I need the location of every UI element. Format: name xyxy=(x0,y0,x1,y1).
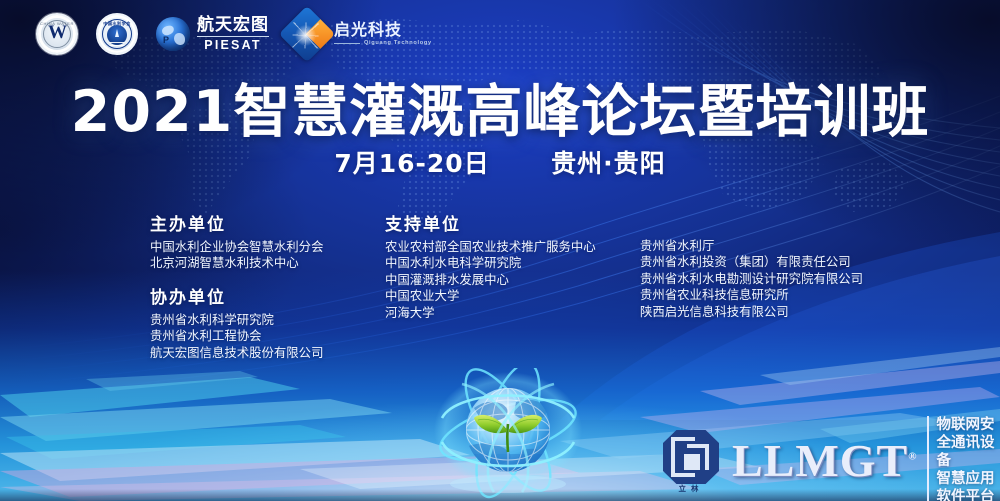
organizer-heading: 主办单位 xyxy=(150,210,385,235)
piesat-name-cn: 航天宏图 xyxy=(197,17,269,34)
llmgt-tagline-line2: 智慧应用软件平台 xyxy=(936,470,1000,501)
list-item: 陕西启光信息科技有限公司 xyxy=(640,304,900,320)
qiguang-name-cn: 启光科技 xyxy=(334,22,432,38)
china-water-enterprise-seal-icon: CHINA WATER W xyxy=(36,13,78,55)
organizer-column: 主办单位 中国水利企业协会智慧水利分会 北京河湖智慧水利技术中心 协办单位 贵州… xyxy=(150,210,385,361)
piesat-divider xyxy=(197,36,269,37)
list-item: 中国水利水电科学研究院 xyxy=(385,255,640,271)
supporter-list: 农业农村部全国农业技术推广服务中心 中国水利水电科学研究院 中国灌溉排水发展中心… xyxy=(385,239,640,321)
list-item: 中国灌溉排水发展中心 xyxy=(385,272,640,288)
llmgt-tagline-line1: 物联网安全通讯设备 xyxy=(936,416,1000,470)
llmgt-octagon-icon: 立林 xyxy=(660,428,722,494)
list-item: 河海大学 xyxy=(385,305,640,321)
piesat-globe-icon: P xyxy=(156,17,190,51)
qiguang-divider xyxy=(334,43,360,44)
qiguang-name-en: Qiguang Technology xyxy=(364,41,432,47)
co-organizer-heading: 协办单位 xyxy=(150,283,385,308)
list-item: 贵州省水利厅 xyxy=(640,238,900,254)
llmgt-wordmark: LLMGT® xyxy=(732,438,917,484)
piesat-badge-letter: P xyxy=(163,35,169,45)
piesat-name-en: PIESAT xyxy=(204,39,261,52)
organizer-list: 中国水利企业协会智慧水利分会 北京河湖智慧水利技术中心 xyxy=(150,239,385,272)
logo-piesat: P 航天宏图 PIESAT xyxy=(156,17,269,52)
list-item: 贵州省水利工程协会 xyxy=(150,328,385,344)
event-location: 贵州·贵阳 xyxy=(551,149,666,178)
list-item: 贵州省水利水电勘测设计研究院有限公司 xyxy=(640,271,900,287)
registered-mark: ® xyxy=(908,451,917,463)
poster-subtitle: 7月16-20日 贵州·贵阳 xyxy=(0,144,1000,180)
list-item: 航天宏图信息技术股份有限公司 xyxy=(150,345,385,361)
list-item: 农业农村部全国农业技术推广服务中心 xyxy=(385,239,640,255)
llmgt-wordmark-text: LLMGT xyxy=(732,435,908,486)
logo-water-conservancy: 中国水利学会 xyxy=(96,13,138,55)
list-item: 中国农业大学 xyxy=(385,288,640,304)
seal-monogram: W xyxy=(38,22,76,44)
supporter-heading: 支持单位 xyxy=(385,210,640,235)
conference-poster: CHINA WATER W 中国水利学会 P 航天宏图 PIESAT xyxy=(0,0,1000,501)
supporter-column-continued: 贵州省水利厅 贵州省水利投资（集团）有限责任公司 贵州省水利水电勘测设计研究院有… xyxy=(640,210,900,320)
water-conservancy-seal-icon: 中国水利学会 xyxy=(96,13,138,55)
earth-sprout-globe-graphic xyxy=(418,368,598,501)
list-item: 贵州省水利科学研究院 xyxy=(150,312,385,328)
llmgt-mark-cn: 立林 xyxy=(660,483,722,494)
list-item: 中国水利企业协会智慧水利分会 xyxy=(150,239,385,255)
sponsor-logo-bar: CHINA WATER W 中国水利学会 P 航天宏图 PIESAT xyxy=(0,0,1000,68)
logo-qiguang: 启光科技 Qiguang Technology xyxy=(287,14,432,54)
event-date: 7月16-20日 xyxy=(334,149,489,178)
list-item: 贵州省农业科技信息研究所 xyxy=(640,287,900,303)
logo-china-water-enterprise: CHINA WATER W xyxy=(36,13,78,55)
llmgt-tagline: 物联网安全通讯设备 智慧应用软件平台 xyxy=(927,416,1000,501)
qiguang-diamond-icon xyxy=(279,6,336,63)
poster-title: 2021智慧灌溉高峰论坛暨培训班 xyxy=(0,66,1000,148)
organizations-block: 主办单位 中国水利企业协会智慧水利分会 北京河湖智慧水利技术中心 协办单位 贵州… xyxy=(150,210,910,361)
sponsor-llmgt-logo: 立林 LLMGT® 物联网安全通讯设备 智慧应用软件平台 xyxy=(660,416,1000,501)
supporter-list-continued: 贵州省水利厅 贵州省水利投资（集团）有限责任公司 贵州省水利水电勘测设计研究院有… xyxy=(640,238,900,320)
co-organizer-list: 贵州省水利科学研究院 贵州省水利工程协会 航天宏图信息技术股份有限公司 xyxy=(150,312,385,361)
list-item: 贵州省水利投资（集团）有限责任公司 xyxy=(640,254,900,270)
supporter-column: 支持单位 农业农村部全国农业技术推广服务中心 中国水利水电科学研究院 中国灌溉排… xyxy=(385,210,640,321)
list-item: 北京河湖智慧水利技术中心 xyxy=(150,255,385,271)
